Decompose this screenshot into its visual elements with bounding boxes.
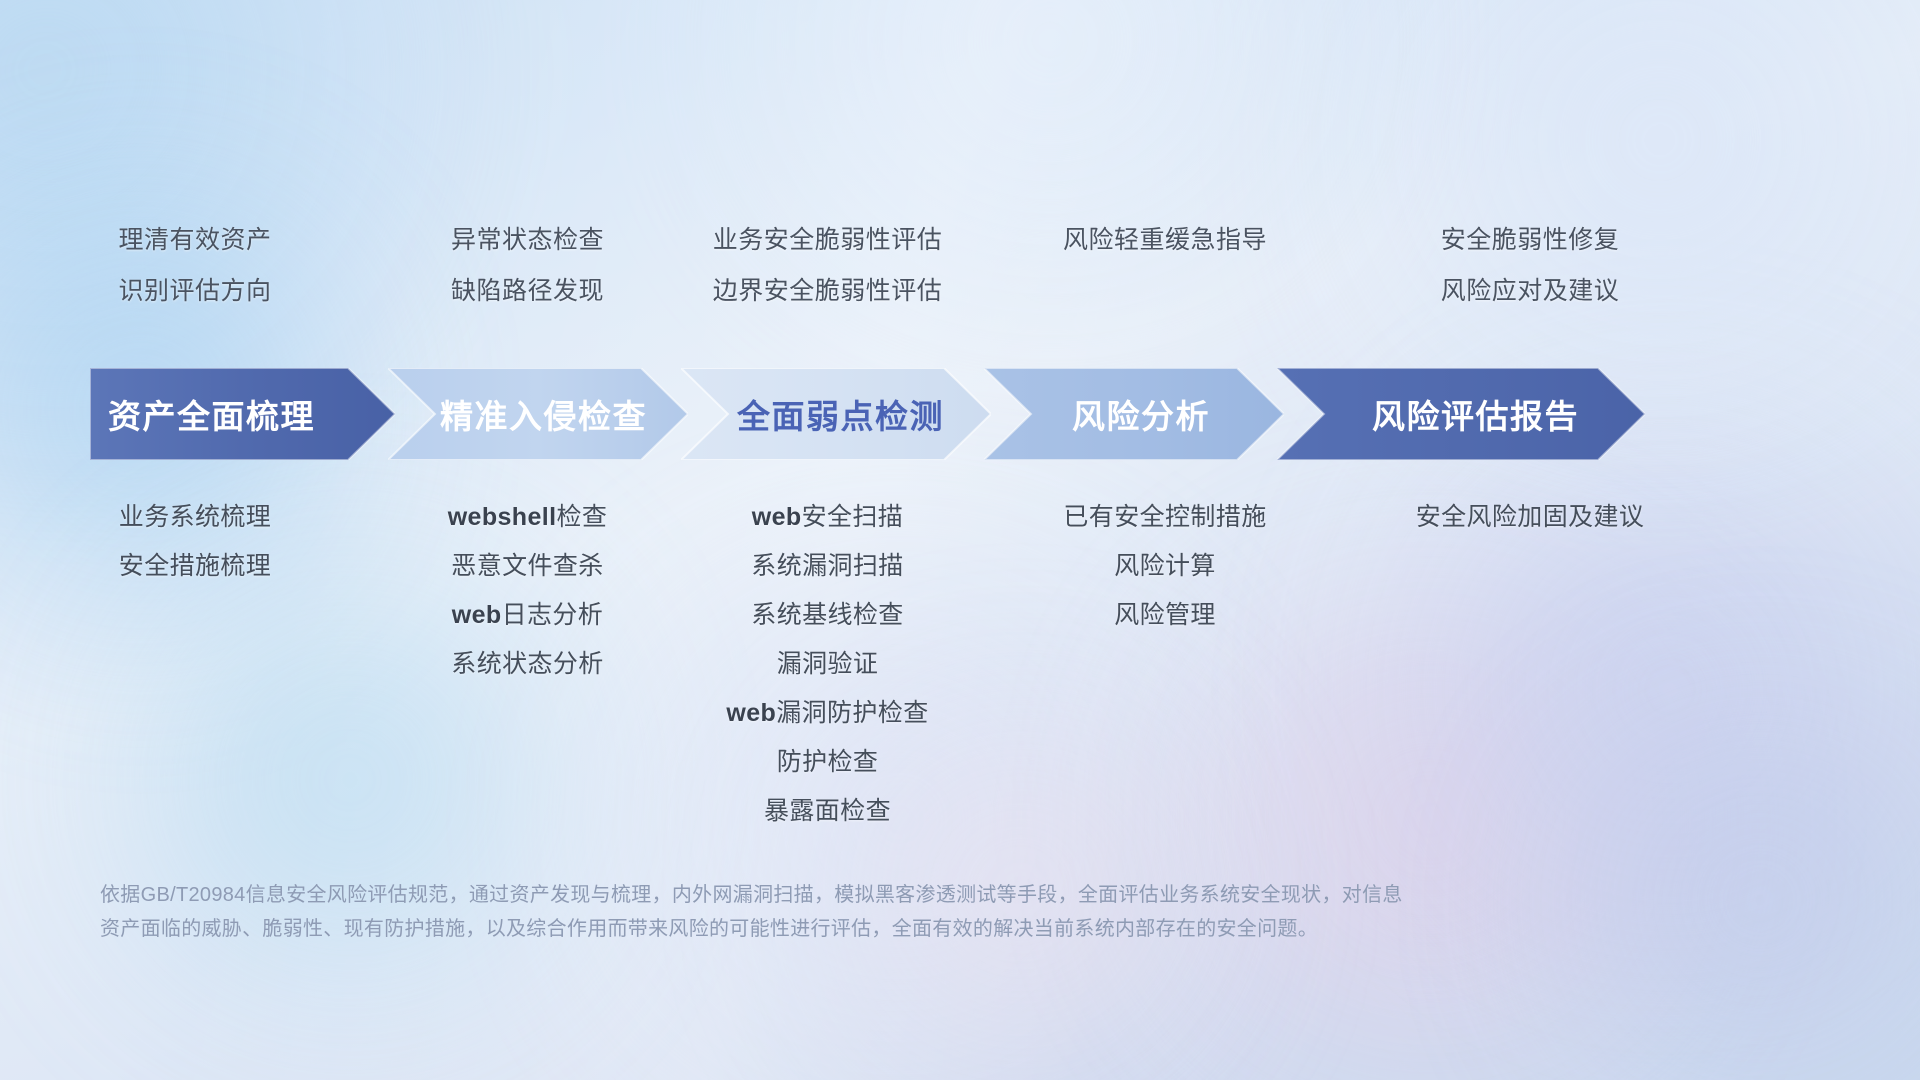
top-item: 理清有效资产 (118, 228, 271, 253)
top-item: 业务安全脆弱性评估 (713, 228, 943, 253)
chevron-label: 风险分析 (1072, 390, 1210, 438)
chevron-label: 全面弱点检测 (737, 390, 944, 438)
top-item: 安全脆弱性修复 (1441, 228, 1620, 253)
chevron-stage-asset-inventory[interactable]: 资产全面梳理 (90, 368, 395, 460)
process-diagram: 理清有效资产识别评估方向 异常状态检查缺陷路径发现 业务安全脆弱性评估边界安全脆… (0, 0, 1920, 1080)
chevron-label: 资产全面梳理 (108, 390, 315, 438)
detail-item-keyword: web (752, 503, 802, 531)
top-item: 异常状态检查 (451, 228, 604, 253)
footer-line-2: 资产面临的威胁、脆弱性、现有防护措施，以及综合作用而带来风险的可能性进行评估，全… (100, 912, 1660, 946)
detail-item-keyword: web (452, 601, 502, 629)
chevron-stage-risk-analysis[interactable]: 风险分析 (984, 368, 1284, 460)
detail-item-keyword: web (726, 699, 776, 727)
top-item: 识别评估方向 (118, 279, 271, 304)
top-item: 风险轻重缓急指导 (1063, 228, 1267, 253)
detail-item: webshell检查 (448, 505, 608, 530)
detail-item: 漏洞验证 (777, 652, 879, 677)
top-column-asset-inventory: 理清有效资产识别评估方向 (0, 228, 390, 338)
detail-item: 系统漏洞扫描 (751, 554, 903, 579)
bottom-column-asset-inventory: 业务系统梳理安全措施梳理 (0, 505, 390, 579)
chevron-stage-weakness-detection[interactable]: 全面弱点检测 (681, 368, 991, 460)
detail-item: 风险计算 (1114, 554, 1216, 579)
detail-item-keyword: webshell (448, 503, 557, 531)
top-descriptor-row: 理清有效资产识别评估方向 异常状态检查缺陷路径发现 业务安全脆弱性评估边界安全脆… (0, 228, 1920, 338)
top-column-assessment-report: 安全脆弱性修复风险应对及建议 (1340, 228, 1720, 338)
chevron-label: 风险评估报告 (1372, 390, 1579, 438)
bottom-detail-row: 业务系统梳理安全措施梳理 webshell检查恶意文件查杀web日志分析系统状态… (0, 505, 1920, 824)
bottom-column-risk-analysis: 已有安全控制措施风险计算风险管理 (990, 505, 1340, 628)
stage-chevron-band: 资产全面梳理 精准入侵检查 (0, 368, 1920, 460)
detail-item: web日志分析 (452, 603, 603, 628)
top-column-risk-analysis: 风险轻重缓急指导 (990, 228, 1340, 338)
footer-description: 依据GB/T20984信息安全风险评估规范，通过资产发现与梳理，内外网漏洞扫描，… (100, 878, 1660, 946)
bottom-column-weakness-detection: web安全扫描系统漏洞扫描系统基线检查漏洞验证web漏洞防护检查防护检查暴露面检… (665, 505, 990, 824)
chevron-label: 精准入侵检查 (440, 390, 647, 438)
detail-item: 业务系统梳理 (119, 505, 271, 530)
detail-item: 已有安全控制措施 (1063, 505, 1266, 530)
detail-item: 系统状态分析 (451, 652, 603, 677)
bottom-column-intrusion-check: webshell检查恶意文件查杀web日志分析系统状态分析 (390, 505, 665, 677)
detail-item: 恶意文件查杀 (451, 554, 603, 579)
top-item: 缺陷路径发现 (451, 279, 604, 304)
bottom-column-assessment-report: 安全风险加固及建议 (1340, 505, 1720, 530)
chevron-stage-intrusion-check[interactable]: 精准入侵检查 (388, 368, 688, 460)
top-item: 边界安全脆弱性评估 (713, 279, 943, 304)
detail-item: 防护检查 (777, 750, 879, 775)
chevron-stage-assessment-report[interactable]: 风险评估报告 (1277, 368, 1645, 460)
detail-item: web安全扫描 (752, 505, 903, 530)
top-column-intrusion-check: 异常状态检查缺陷路径发现 (390, 228, 665, 338)
detail-item: 暴露面检查 (764, 799, 891, 824)
detail-item: web漏洞防护检查 (726, 701, 928, 726)
footer-line-1: 依据GB/T20984信息安全风险评估规范，通过资产发现与梳理，内外网漏洞扫描，… (100, 878, 1660, 912)
top-column-weakness-detection: 业务安全脆弱性评估边界安全脆弱性评估 (665, 228, 990, 338)
detail-item: 安全风险加固及建议 (1416, 505, 1645, 530)
detail-item: 风险管理 (1114, 603, 1216, 628)
top-item: 风险应对及建议 (1441, 279, 1620, 304)
detail-item: 系统基线检查 (751, 603, 903, 628)
detail-item: 安全措施梳理 (119, 554, 271, 579)
